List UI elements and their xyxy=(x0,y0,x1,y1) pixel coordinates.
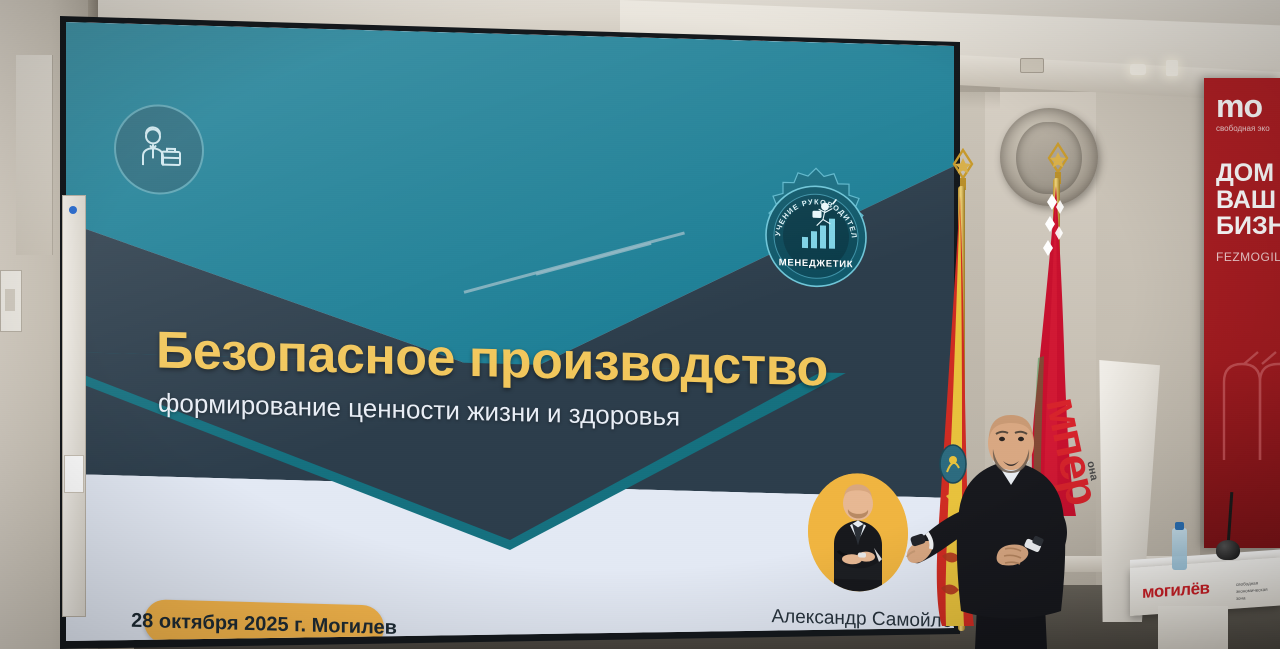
screenshot-root: ОБУЧЕНИЕ РУКОВОДИТЕЛЕЙ xyxy=(0,0,1280,649)
seal-brand-text: МЕНЕДЖЕТИК xyxy=(779,257,854,270)
banner-tagline: свободная эко xyxy=(1216,124,1270,133)
microphone-head xyxy=(1216,540,1240,560)
flag-finial xyxy=(951,148,975,190)
speaker-person xyxy=(905,415,1120,649)
water-bottle xyxy=(1172,528,1187,570)
banner-headline: ДОМВАШБИЗН xyxy=(1216,160,1280,240)
ceiling-spotlight xyxy=(1130,64,1146,75)
screen-panel-indicator xyxy=(69,206,77,214)
banner-logo-text: mo xyxy=(1216,88,1262,125)
banner-m-watermark xyxy=(1214,330,1280,480)
banner-url: FEZMOGILE xyxy=(1216,250,1280,264)
wall-socket xyxy=(1020,58,1044,73)
wall-panel xyxy=(16,55,53,255)
ceiling-spotlight xyxy=(1166,60,1178,76)
podium-sub-text: свободнаяэкономическаязона xyxy=(1236,580,1268,602)
slide-date-place-badge: 28 октября 2025 г. Могилев xyxy=(144,599,384,641)
screen-panel-label xyxy=(64,455,84,493)
presentation-slide: ОБУЧЕНИЕ РУКОВОДИТЕЛЕЙ xyxy=(66,22,954,641)
water-bottle-cap xyxy=(1175,522,1184,530)
menedzhetik-seal-badge: ОБУЧЕНИЕ РУКОВОДИТЕЛЕЙ xyxy=(752,165,880,308)
projection-screen: ОБУЧЕНИЕ РУКОВОДИТЕЛЕЙ xyxy=(66,22,954,641)
light-switch[interactable] xyxy=(0,270,22,332)
screen-edge-panel xyxy=(62,195,86,617)
podium-base xyxy=(1158,606,1228,649)
